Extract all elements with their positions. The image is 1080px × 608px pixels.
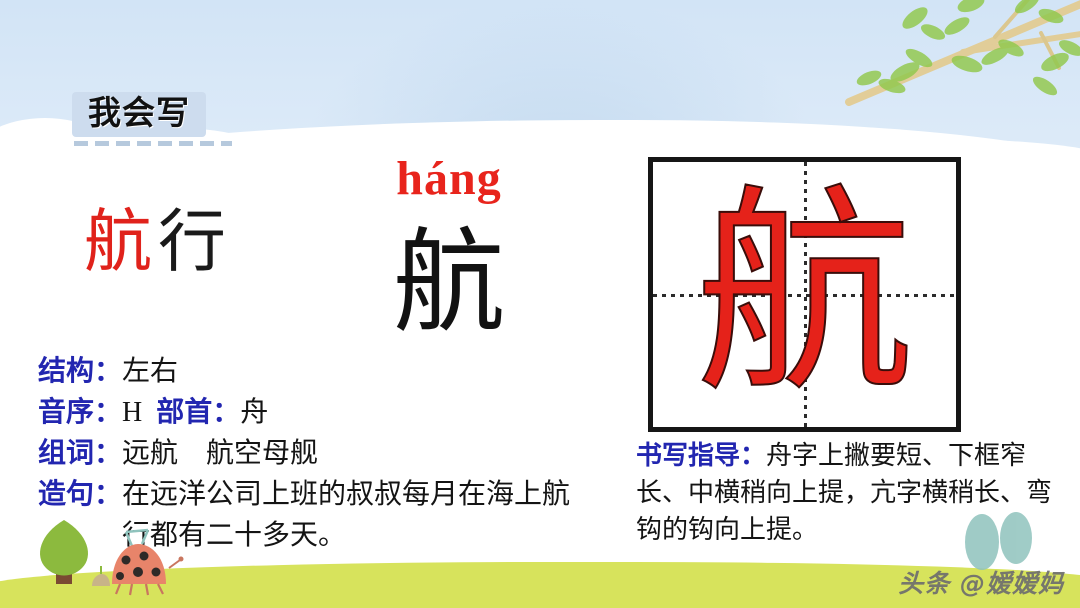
pinyin-label: háng xyxy=(344,155,554,203)
big-character: 航 xyxy=(344,228,554,340)
character-info-list: 结构：左右 音序：H 部首：舟 组词：远航 航空母舰 造句：在远洋公司上班的叔叔… xyxy=(38,352,618,556)
slide-canvas: 我会写 航行 háng 航 结构：左右 音序：H 部首：舟 组词：远航 航空母舰… xyxy=(0,0,1080,608)
heading-dashed-underline xyxy=(74,141,232,146)
info-row-structure: 结构：左右 xyxy=(38,352,618,393)
info-value-sentence: 在远洋公司上班的叔叔每月在海上航行都有二十多天。 xyxy=(122,475,574,557)
info-row-pinyin-order: 音序：H 部首：舟 xyxy=(38,393,618,434)
info-value-radical: 舟 xyxy=(240,397,268,428)
example-word: 航行 xyxy=(84,208,232,276)
info-label-pinyin-order: 音序： xyxy=(38,397,122,428)
example-word-target-char: 航 xyxy=(84,204,158,280)
character-grid-box: 航 xyxy=(648,157,961,432)
example-word-rest: 行 xyxy=(158,204,232,280)
watermark-text: 头条 @嫒嫒妈 xyxy=(898,564,1064,600)
writing-guidance: 书写指导：舟字上撇要短、下框窄长、中横稍向上提，亢字横稍长、弯钩的钩向上提。 xyxy=(636,438,1074,549)
info-label-words: 组词： xyxy=(38,438,122,469)
info-row-words: 组词：远航 航空母舰 xyxy=(38,434,618,475)
writing-guidance-label: 书写指导： xyxy=(636,441,766,470)
info-value-pinyin-order: H xyxy=(122,397,142,428)
grid-character: 航 xyxy=(653,186,956,404)
section-heading: 我会写 xyxy=(72,92,206,137)
info-label-sentence: 造句： xyxy=(38,479,122,510)
info-value-words: 远航 航空母舰 xyxy=(122,438,318,469)
info-label-structure: 结构： xyxy=(38,356,122,387)
heading-label: 我会写 xyxy=(88,93,190,132)
info-value-structure: 左右 xyxy=(122,356,178,387)
info-label-radical: 部首： xyxy=(156,397,240,428)
heading-chip: 我会写 xyxy=(72,92,206,137)
info-row-sentence: 造句：在远洋公司上班的叔叔每月在海上航行都有二十多天。 xyxy=(38,475,618,557)
